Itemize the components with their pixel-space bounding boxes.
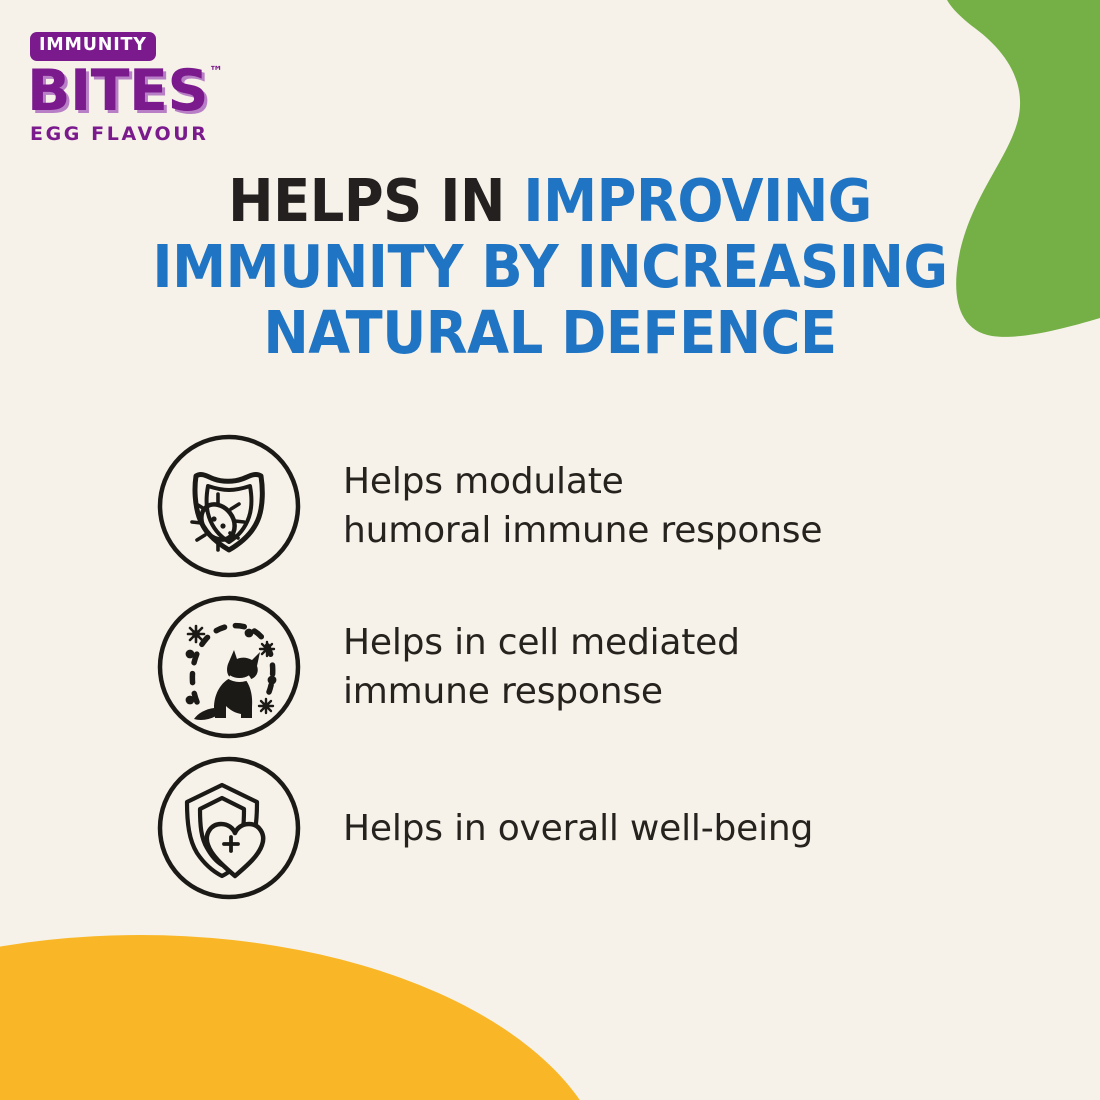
list-item-label: Helps in cell mediated immune response [343,618,986,716]
headline-line3: NATURAL DEFENCE [263,298,836,367]
yellow-blob-bottom-left [0,935,610,1100]
logo-wordmark-row: BITES ™ [27,62,257,120]
shield-bacteria-icon [156,433,302,579]
logo-bites-wordmark: BITES [27,62,208,120]
headline-line2: IMMUNITY BY INCREASING [152,232,947,301]
headline-line1-blue: IMPROVING [523,166,872,235]
logo-flavour-label: EGG FLAVOUR [30,125,257,144]
list-item: Helps in cell mediated immune response [156,593,986,741]
shield-heart-icon [156,755,302,901]
list-item: Helps in overall well-being [156,754,986,902]
brand-logo: IMMUNITY BITES ™ EGG FLAVOUR [27,32,257,144]
list-item-label: Helps in overall well-being [343,804,986,853]
trademark-icon: ™ [209,64,223,80]
logo-immunity-badge: IMMUNITY [30,32,156,61]
list-item-label: Helps modulate humoral immune response [343,457,986,555]
list-item: Helps modulate humoral immune response [156,432,986,580]
poster-canvas: IMMUNITY BITES ™ EGG FLAVOUR HELPS IN IM… [0,0,1100,1100]
dog-protected-icon [156,594,302,740]
benefits-list: Helps modulate humoral immune response [156,432,986,902]
page-title: HELPS IN IMPROVING IMMUNITY BY INCREASIN… [127,168,973,366]
headline-line1-dark: HELPS IN [228,166,523,235]
